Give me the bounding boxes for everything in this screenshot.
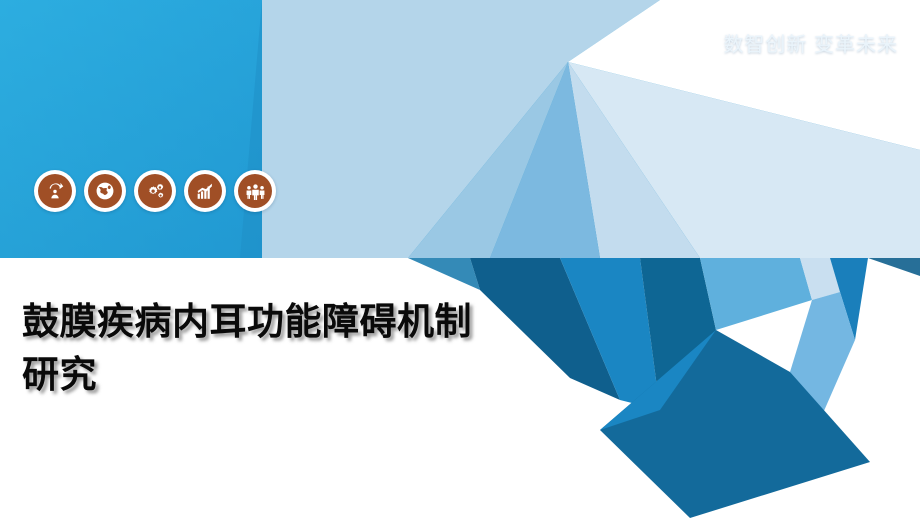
people-group-icon xyxy=(238,174,272,208)
title-slide: 数智创新 变革未来 xyxy=(0,0,920,518)
facet-lower-right-column xyxy=(830,258,868,340)
icon-badge-globe[interactable] xyxy=(84,170,126,212)
icon-badge-people-group[interactable] xyxy=(234,170,276,212)
facet-bottom-plank xyxy=(600,330,870,518)
icon-badge-gears[interactable] xyxy=(134,170,176,212)
page-title-line-1: 鼓膜疾病内耳功能障碍机制 xyxy=(22,296,542,349)
facet-band-notch-left xyxy=(408,258,480,290)
facet-lower-mid-left xyxy=(560,258,660,410)
facet-lower-dark-connector xyxy=(640,258,716,410)
facet-pale-upper-left xyxy=(262,0,660,258)
facet-fan-blade-4 xyxy=(408,62,568,258)
facet-white-sliver xyxy=(568,0,920,150)
facet-bottom-wedge xyxy=(600,330,716,430)
icon-badge-recycle-person[interactable] xyxy=(34,170,76,212)
recycle-person-icon xyxy=(38,174,72,208)
gears-icon xyxy=(138,174,172,208)
facet-fan-blade-2 xyxy=(568,62,700,258)
globe-icon xyxy=(88,174,122,208)
bar-chart-icon xyxy=(188,174,222,208)
background-artwork xyxy=(0,0,920,518)
facet-edge-upper-left xyxy=(240,0,262,258)
page-title: 鼓膜疾病内耳功能障碍机制 研究 xyxy=(22,296,542,401)
facet-lower-right-blade xyxy=(790,292,855,420)
facet-lower-light-wide xyxy=(700,258,812,330)
facet-fan-blade-3 xyxy=(490,62,600,258)
page-title-line-2: 研究 xyxy=(22,349,542,402)
facet-fan-blade-1 xyxy=(568,62,920,258)
icon-strip xyxy=(34,170,276,212)
facet-lower-pale-right xyxy=(800,258,840,300)
slide-tagline: 数智创新 变革未来 xyxy=(723,28,898,57)
icon-badge-bar-chart[interactable] xyxy=(184,170,226,212)
facet-band-shadow-right xyxy=(868,258,920,276)
